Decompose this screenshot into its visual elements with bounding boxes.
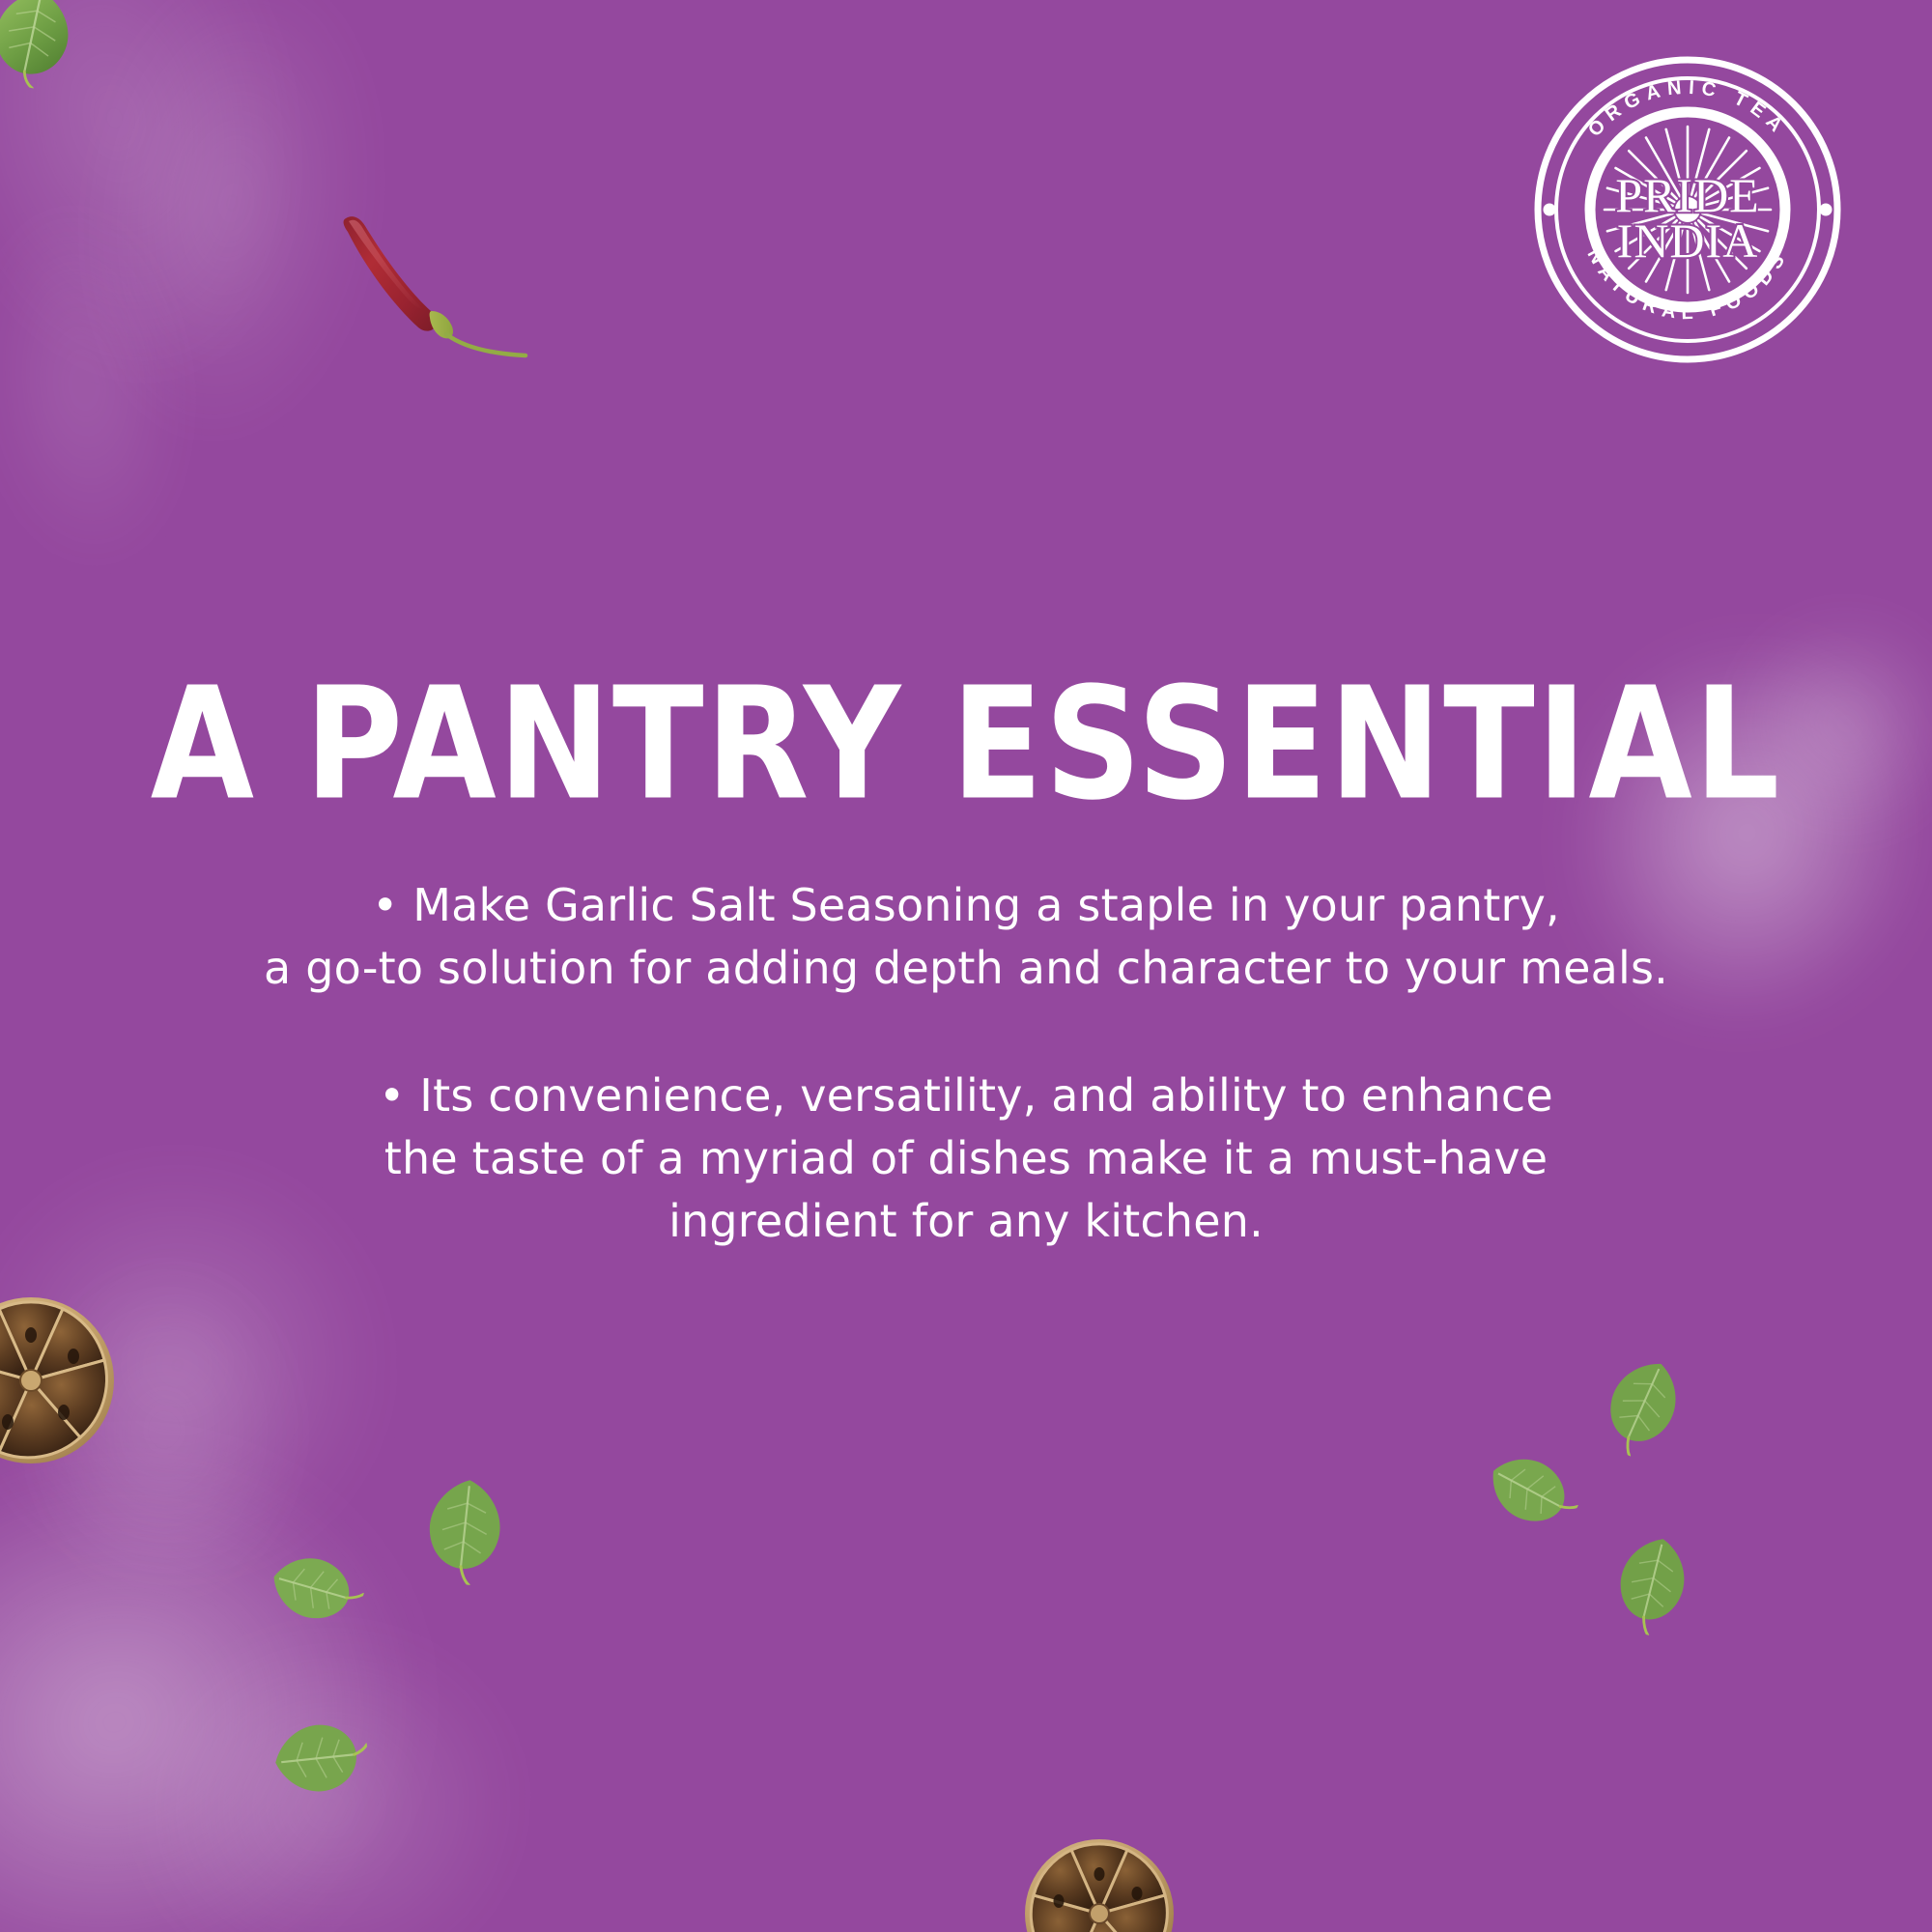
basil-leaf-icon [259,1536,373,1642]
bullet-line: • Make Garlic Salt Seasoning a staple in… [116,874,1816,937]
smoke-swirl-bottom-left-3 [26,1501,766,1932]
red-chili-pepper-icon [336,211,539,365]
smoke-swirl-top-left-3 [0,102,263,728]
logo-brand-line-2: INDIA [1617,213,1759,268]
basil-leaf-icon [1584,1344,1701,1469]
basil-leaf-icon [1600,1525,1705,1643]
brand-logo: ORGANIC TEA NATURAL FOODS [1528,50,1847,369]
bullet-line: ingredient for any kitchen. [116,1190,1816,1253]
roasted-garlic-bulb-bottom [1022,1835,1177,1932]
body-copy: • Make Garlic Salt Seasoning a staple in… [116,874,1816,1254]
bullet-line: the taste of a myriad of dishes make it … [116,1127,1816,1190]
bullet-paragraph-1: • Make Garlic Salt Seasoning a staple in… [116,874,1816,1001]
roasted-garlic-bulb-left [0,1293,118,1468]
basil-leaf-icon [1471,1435,1592,1548]
bullet-paragraph-2: • Its convenience, versatility, and abil… [116,1065,1816,1254]
bullet-line: a go-to solution for adding depth and ch… [116,937,1816,1000]
bullet-line: • Its convenience, versatility, and abil… [116,1065,1816,1127]
basil-leaf-icon [414,1471,514,1588]
basil-leaf-icon [267,1706,373,1810]
basil-leaf-icon [0,0,95,97]
page-title: A PANTRY ESSENTIAL [0,668,1932,822]
poster-canvas: ORGANIC TEA NATURAL FOODS [0,0,1932,1932]
